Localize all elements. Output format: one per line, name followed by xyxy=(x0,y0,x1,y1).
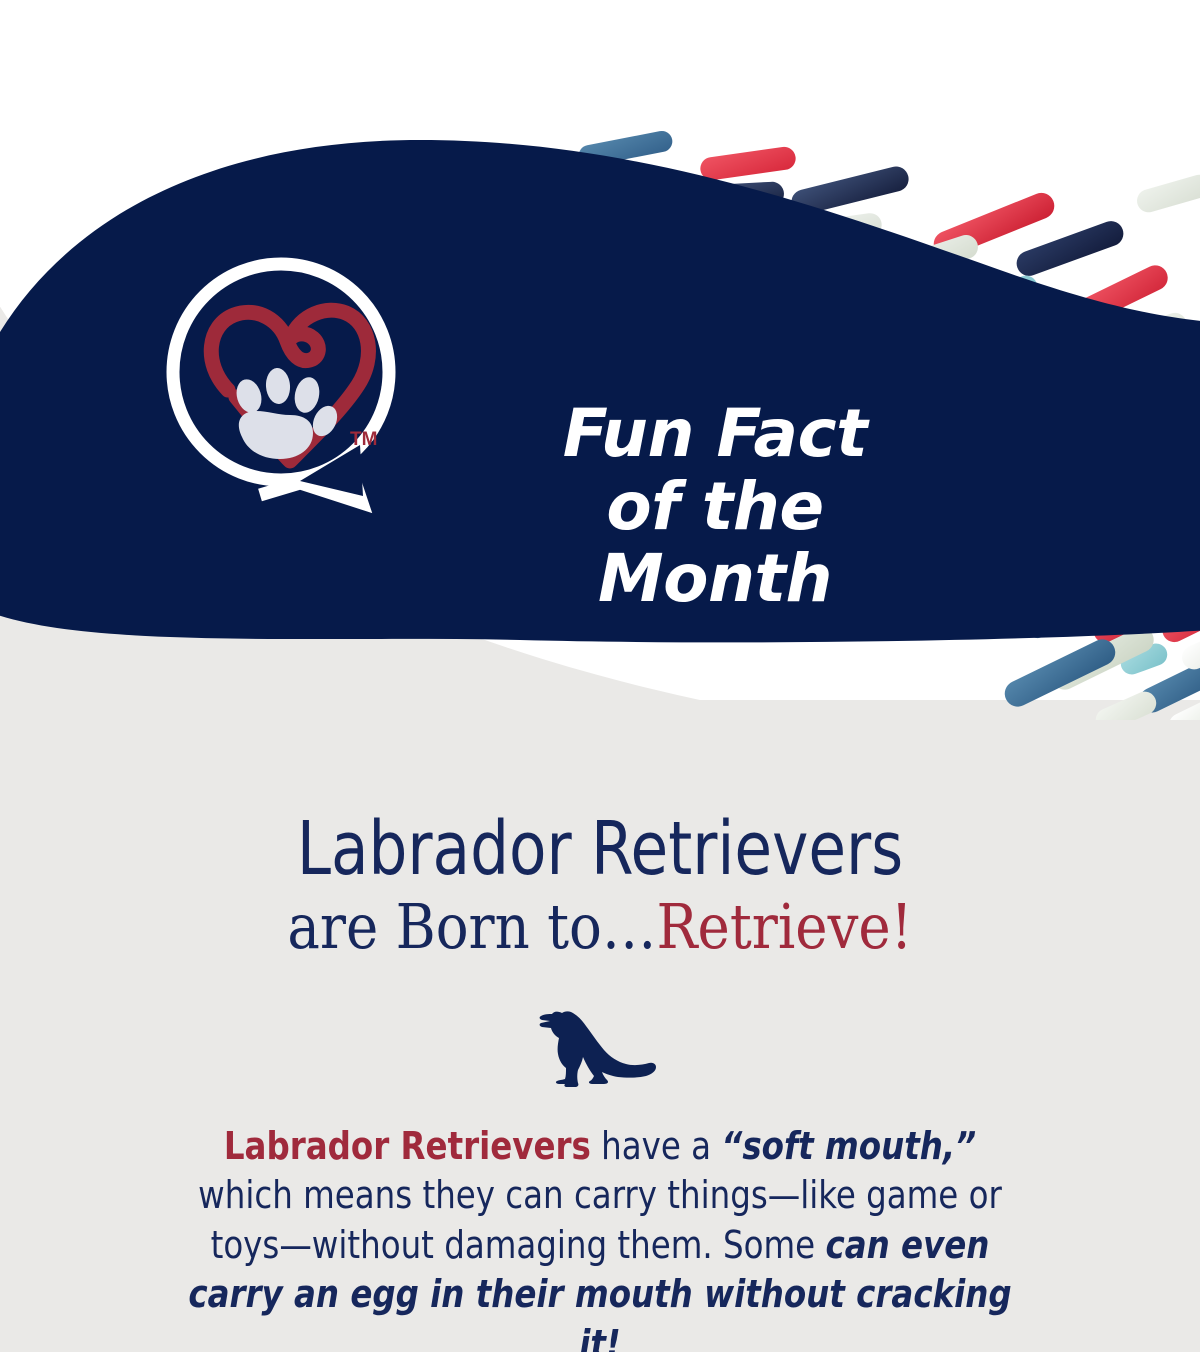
page-headline: Labrador Retrievers are Born to…Retrieve… xyxy=(0,812,1200,959)
headline-line1: Labrador Retrievers xyxy=(48,812,1152,886)
headline-line2-accent: Retrieve! xyxy=(656,890,912,963)
body-seg1: have a xyxy=(591,1124,722,1168)
heart-paw-icon xyxy=(211,310,368,461)
headline-line2: are Born to…Retrieve! xyxy=(72,894,1128,959)
headline-line2-prefix: are Born to… xyxy=(287,890,656,963)
fun-fact-poster: TM Fun Fact of the Month Labrador Retrie… xyxy=(0,0,1200,1352)
body-copy: Labrador Retrievers have a “soft mouth,”… xyxy=(182,1122,1018,1352)
trademark-symbol: TM xyxy=(350,429,377,450)
body-lead: Labrador Retrievers xyxy=(224,1124,591,1168)
hero-title-line1: Fun Fact xyxy=(480,398,950,471)
sitting-dog-silhouette-icon xyxy=(532,992,668,1088)
logo-speech-bubble: TM xyxy=(150,245,440,545)
hero-title: Fun Fact of the Month xyxy=(480,398,950,616)
body-emphasis-1: “soft mouth,” xyxy=(721,1124,976,1168)
hero-title-line2: of the Month xyxy=(480,471,950,616)
